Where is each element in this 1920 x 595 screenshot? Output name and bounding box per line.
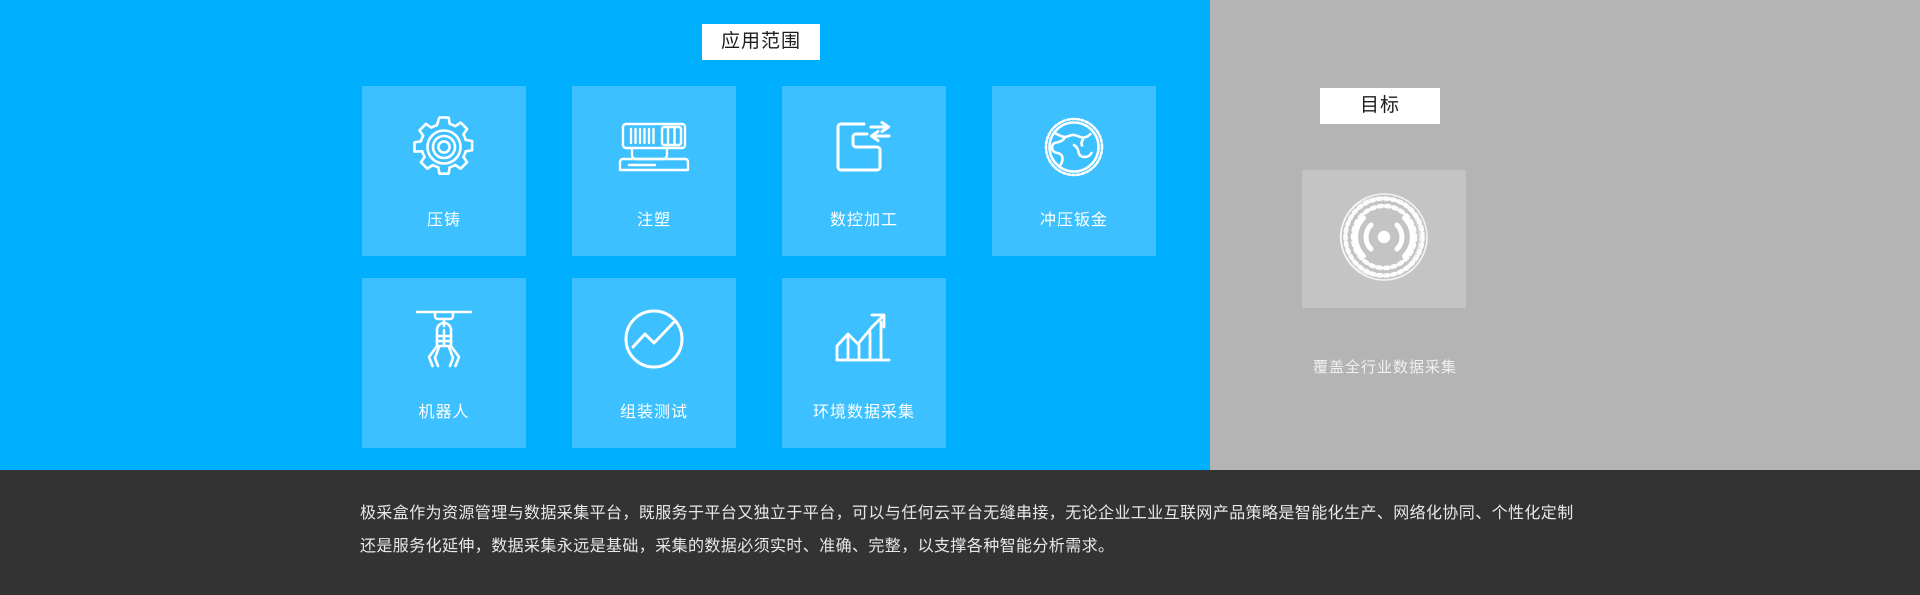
circle-line-chart-icon [617,302,691,376]
target-tile[interactable] [1302,170,1466,308]
card-assembly-test[interactable]: 组装测试 [572,278,736,448]
page-root: 应用范围 压铸 [0,0,1920,595]
card-robot[interactable]: 机器人 [362,278,526,448]
wireless-signal-icon [1332,185,1436,294]
card-label: 冲压钣金 [1040,206,1108,230]
target-badge: 目标 [1320,88,1440,124]
card-stamping-sheet-metal[interactable]: 冲压钣金 [992,86,1156,256]
application-scope-card-grid: 压铸 注塑 [362,86,1162,448]
cnc-machining-icon [827,110,901,184]
card-label: 组装测试 [620,398,688,422]
card-die-casting[interactable]: 压铸 [362,86,526,256]
globe-stamping-icon [1037,110,1111,184]
gear-icon [407,110,481,184]
target-caption: 覆盖全行业数据采集 [1180,356,1590,377]
card-label: 数控加工 [830,206,898,230]
robot-gripper-icon [407,302,481,376]
card-label: 环境数据采集 [813,398,915,422]
card-cnc-machining[interactable]: 数控加工 [782,86,946,256]
card-environment-data-collection[interactable]: 环境数据采集 [782,278,946,448]
footer-panel: 极采盒作为资源管理与数据采集平台，既服务于平台又独立于平台，可以与任何云平台无缝… [0,470,1920,595]
footer-description: 极采盒作为资源管理与数据采集平台，既服务于平台又独立于平台，可以与任何云平台无缝… [360,497,1580,563]
card-label: 机器人 [418,398,469,422]
injection-molding-machine-icon [617,110,691,184]
growth-bar-chart-icon [827,302,901,376]
card-row-2: 机器人 组装测试 [362,278,1162,448]
card-label: 注塑 [637,206,671,230]
application-scope-panel: 应用范围 压铸 [0,0,1210,470]
card-row-1: 压铸 注塑 [362,86,1162,256]
application-scope-badge: 应用范围 [702,24,820,60]
card-label: 压铸 [427,206,461,230]
card-injection-molding[interactable]: 注塑 [572,86,736,256]
